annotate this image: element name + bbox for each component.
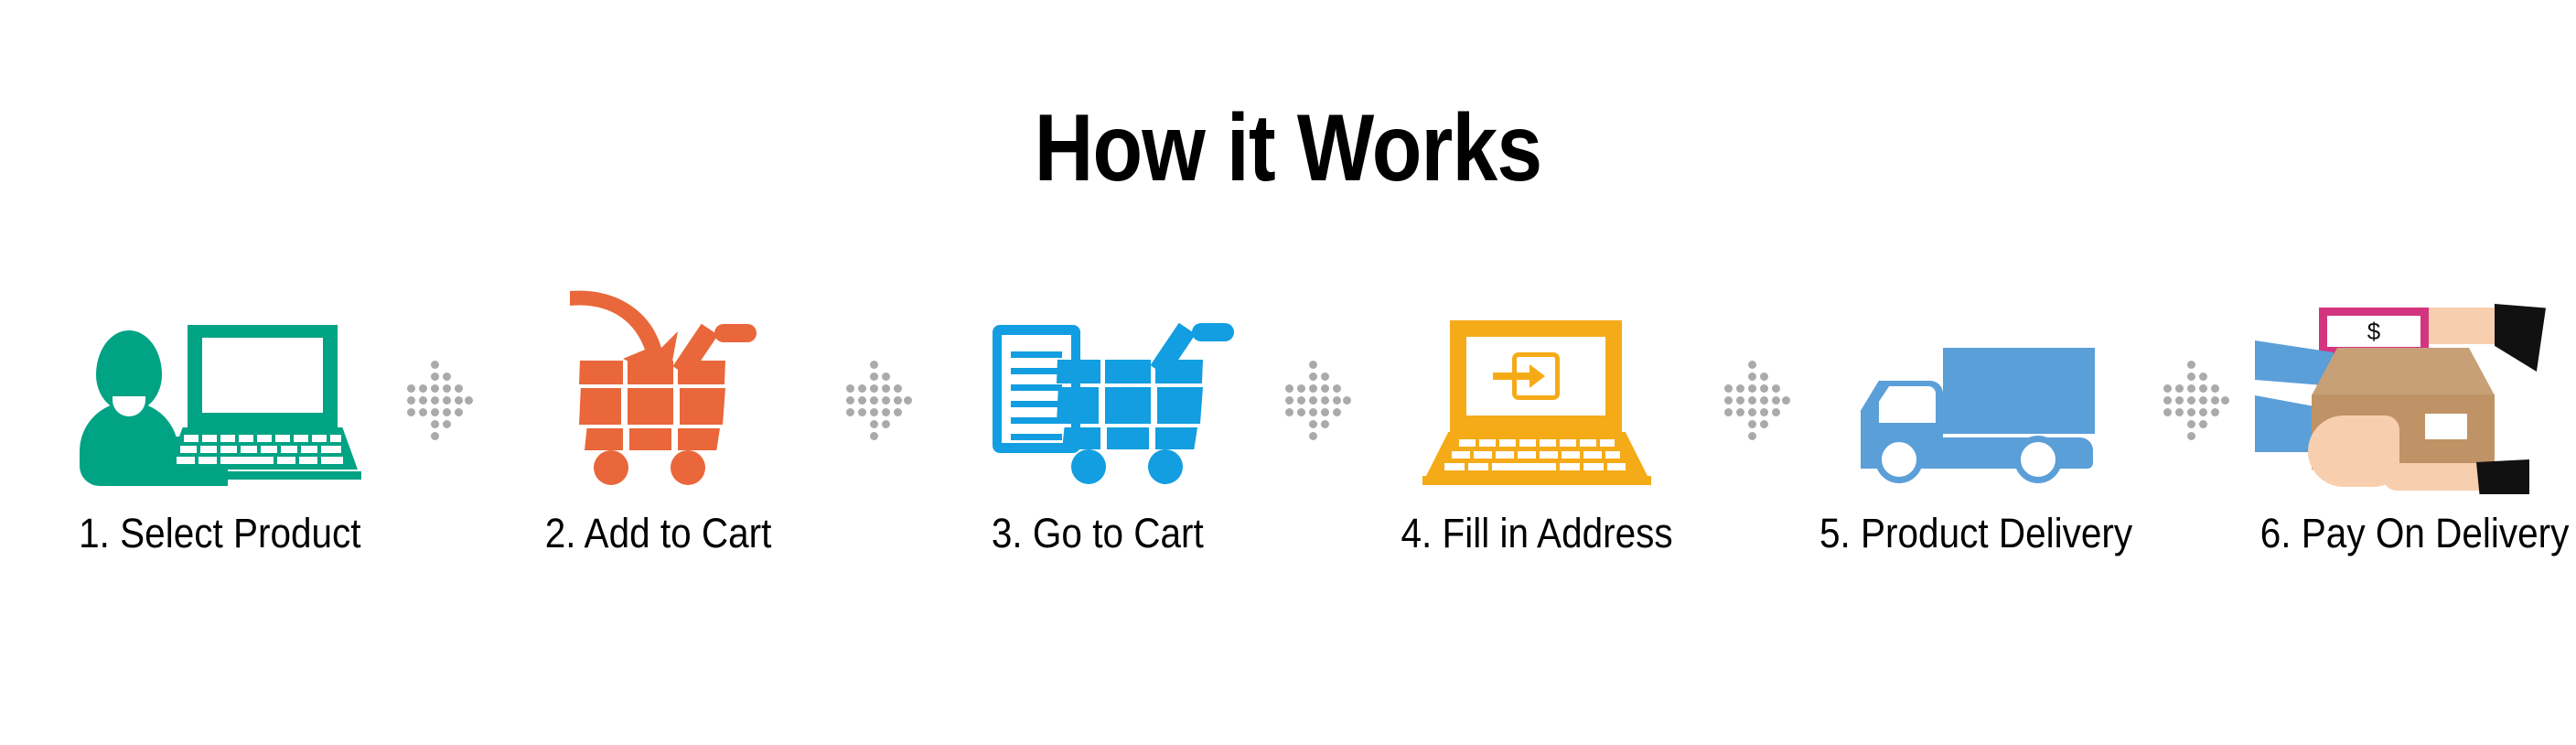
separator-5 [2159, 302, 2232, 485]
dotted-arrow-right-icon [2163, 361, 2228, 426]
cart-basket-shape [1057, 360, 1203, 449]
laptop-with-login-arrow-icon [1422, 320, 1651, 485]
steps-row: 1. Select Product [37, 302, 2543, 668]
step-3-go-to-cart: 3. Go to Cart [915, 302, 1281, 554]
separator-4 [1720, 302, 1793, 485]
login-arrow-icon [1512, 352, 1560, 400]
laptop-keyboard-base [167, 427, 358, 470]
cart-wheel-left [594, 450, 628, 485]
laptop-keys-group [1426, 432, 1648, 476]
cart-wheel-right [671, 450, 705, 485]
separator-2 [842, 302, 915, 485]
separator-1 [402, 302, 476, 485]
delivery-truck-icon [1848, 339, 2104, 485]
cart-basket-shape [579, 361, 725, 450]
page-title: How it Works [180, 101, 2396, 196]
dotted-arrow-right-icon [845, 361, 911, 426]
step-4-icon-area [1354, 302, 1720, 485]
step-5-icon-area [1793, 302, 2159, 485]
separator-3 [1281, 302, 1354, 485]
step-6-label: 6. Pay On Delivery [2260, 513, 2570, 554]
step-5-label: 5. Product Delivery [1819, 513, 2132, 554]
laptop-screen-shape [1450, 320, 1622, 432]
truck-cargo-box [1943, 348, 2095, 434]
cart-wheel-right [1148, 449, 1183, 484]
dotted-arrow-right-icon [406, 361, 472, 426]
laptop-base-edge [1422, 476, 1651, 485]
truck-window [1879, 386, 1936, 423]
cart-shape [1049, 329, 1223, 484]
person-with-laptop-icon [87, 325, 352, 485]
step-2-label: 2. Add to Cart [545, 513, 772, 554]
step-1-label: 1. Select Product [79, 513, 360, 554]
step-2-icon-area [476, 302, 842, 485]
parcel-box-lid [2312, 348, 2495, 395]
cart-wheel-left [1071, 449, 1106, 484]
step-6-icon-area: $ [2232, 302, 2576, 485]
shopping-cart-with-arrow-icon [572, 329, 746, 485]
step-4-fill-in-address: 4. Fill in Address [1354, 302, 1720, 554]
laptop-keyboard-base [1426, 432, 1648, 476]
truck-wheel-rear [2014, 436, 2062, 483]
step-2-add-to-cart: 2. Add to Cart [476, 302, 842, 554]
dollar-sign-label: $ [2367, 319, 2380, 343]
laptop-screen-inner [1466, 337, 1605, 416]
document-with-cart-icon [993, 325, 1203, 485]
step-1-select-product: 1. Select Product [37, 302, 402, 554]
step-4-label: 4. Fill in Address [1401, 513, 1672, 554]
parcel-shipping-label [2425, 414, 2467, 439]
step-3-label: 3. Go to Cart [992, 513, 1204, 554]
step-3-icon-area [915, 302, 1281, 485]
laptop-screen-shape [188, 325, 338, 427]
arrow-tip [1529, 364, 1545, 388]
dotted-arrow-right-icon [1284, 361, 1350, 426]
step-5-product-delivery: 5. Product Delivery [1793, 302, 2159, 554]
courier-thumb [2352, 428, 2399, 452]
dotted-arrow-right-icon [1723, 361, 1789, 426]
customer-sleeve-upper [2495, 304, 2546, 372]
step-1-icon-area [37, 302, 402, 485]
step-6-pay-on-delivery: $ 6. Pay On Delivery [2232, 302, 2576, 554]
truck-wheel-front [1875, 436, 1923, 483]
laptop-base-edge [164, 471, 361, 480]
infographic-page: How it Works [0, 0, 2576, 745]
hands-exchanging-box-and-cash-icon: $ [2264, 302, 2566, 485]
customer-sleeve-lower [2476, 459, 2529, 494]
customer-hand-lower [2383, 463, 2485, 491]
laptop-keys-group [167, 427, 358, 470]
